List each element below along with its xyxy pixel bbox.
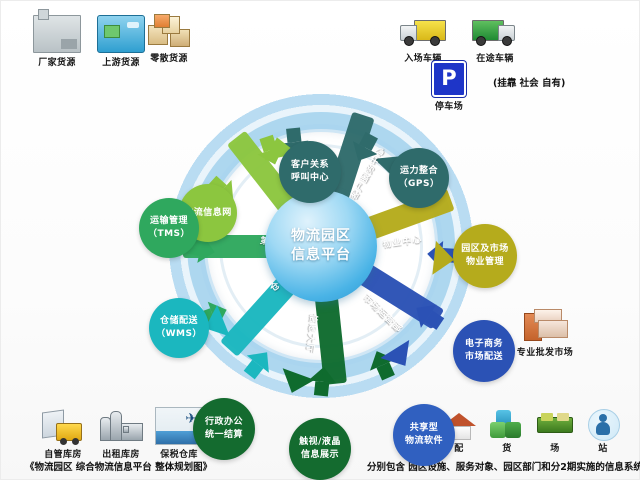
ring-arrow-label: 信息大厅 (304, 313, 321, 354)
icon-label: 场 (531, 441, 579, 454)
icon-block-wholesale-market: 专业批发市场 (503, 307, 587, 358)
ring-arrow-info-hall (314, 291, 346, 385)
ring-arrow-label: 物业中心 (381, 232, 422, 250)
icon-label: 站 (581, 441, 625, 454)
icon-block-retail: 零散货源 (137, 13, 201, 64)
icon-label: 专业批发市场 (503, 345, 587, 358)
central-wheel-diagram: IT支持部客户服务中心物业中心市场运营部信息大厅仓储配送部第三方物流部 物流园区… (161, 86, 481, 406)
bubble-label-line: 园区及市场 (461, 243, 509, 256)
bubble-label-line: 行政办公 (205, 416, 243, 429)
icon-label: 厂家货源 (25, 55, 89, 68)
bubble-shared-software[interactable]: 共享型物流软件 (393, 404, 455, 466)
bubble-label-line: 共享型 (410, 422, 439, 435)
icon-block-self-warehouse: 自管库房 (31, 409, 95, 460)
ring-arrow-head (380, 340, 419, 375)
cubes-icon (490, 409, 524, 439)
core-line-2: 信息平台 (291, 246, 351, 265)
bubble-label-line: 触视/液晶 (299, 436, 341, 449)
icon-block-goods: 货 (485, 409, 529, 454)
diagram-canvas: 厂家货源 上游货源 零散货源 入场车辆 在途车辆 停车场 (挂靠 社会 自有) … (0, 0, 640, 480)
bottom-left-caption: 《物流园区 综合物流信息平台 整体规划图》 (25, 459, 212, 473)
bubble-label-line: 运力整合 (400, 165, 438, 178)
bubble-ecommerce-dist[interactable]: 电子商务市场配送 (453, 320, 515, 382)
bubble-label-line: （TMS） (148, 228, 190, 241)
core-platform: 物流园区 信息平台 (265, 190, 377, 302)
bubble-crm-call-center[interactable]: 客户关系呼叫中心 (279, 141, 341, 203)
forklift-icon (40, 409, 86, 445)
bubble-label-line: 统一结算 (205, 429, 243, 442)
boxes-icon (146, 13, 192, 49)
station-icon (588, 409, 618, 439)
icon-block-yard: 场 (531, 409, 579, 454)
icon-label: 零散货源 (137, 51, 201, 64)
truck-yellow-icon (400, 13, 446, 49)
icon-block-incoming-vehicle: 入场车辆 (391, 13, 455, 64)
icon-block-rental-warehouse: 出租库房 (89, 409, 153, 460)
bubble-wms[interactable]: 仓储配送（WMS） (149, 298, 209, 358)
icon-block-station: 站 (581, 409, 625, 454)
truck-green-icon (472, 13, 518, 49)
parking-note: (挂靠 社会 自有) (493, 75, 565, 89)
icon-block-factory: 厂家货源 (25, 15, 89, 68)
bubble-label-line: 运输管理 (150, 215, 188, 228)
bubble-admin-settlement[interactable]: 行政办公统一结算 (193, 398, 255, 460)
icon-block-transit-vehicle: 在途车辆 (463, 13, 527, 64)
bubble-tms[interactable]: 运输管理（TMS） (139, 198, 199, 258)
factory-icon (33, 15, 81, 53)
bubble-label-line: 信息展示 (301, 449, 339, 462)
bubble-label-line: （GPS） (399, 178, 440, 191)
bubble-touch-display[interactable]: 触视/液晶信息展示 (289, 418, 351, 480)
bubble-label-line: （WMS） (156, 328, 202, 341)
silo-icon (98, 409, 144, 445)
market-icon (522, 307, 568, 343)
yard-icon (535, 409, 575, 439)
core-line-1: 物流园区 (291, 227, 351, 246)
bubble-label-line: 物流软件 (405, 435, 443, 448)
bubble-label-line: 市场配送 (465, 351, 503, 364)
bubble-park-property[interactable]: 园区及市场物业管理 (453, 224, 517, 288)
ring-arrow-head (276, 368, 315, 398)
icon-label: 货 (485, 441, 529, 454)
bubble-label-line: 呼叫中心 (291, 172, 329, 185)
bubble-label-line: 电子商务 (465, 338, 503, 351)
bubble-label-line: 客户关系 (291, 159, 329, 172)
bubble-label-line: 仓储配送 (160, 315, 198, 328)
bubble-capacity-gps[interactable]: 运力整合（GPS） (389, 148, 449, 208)
bubble-label-line: 物业管理 (466, 256, 504, 269)
